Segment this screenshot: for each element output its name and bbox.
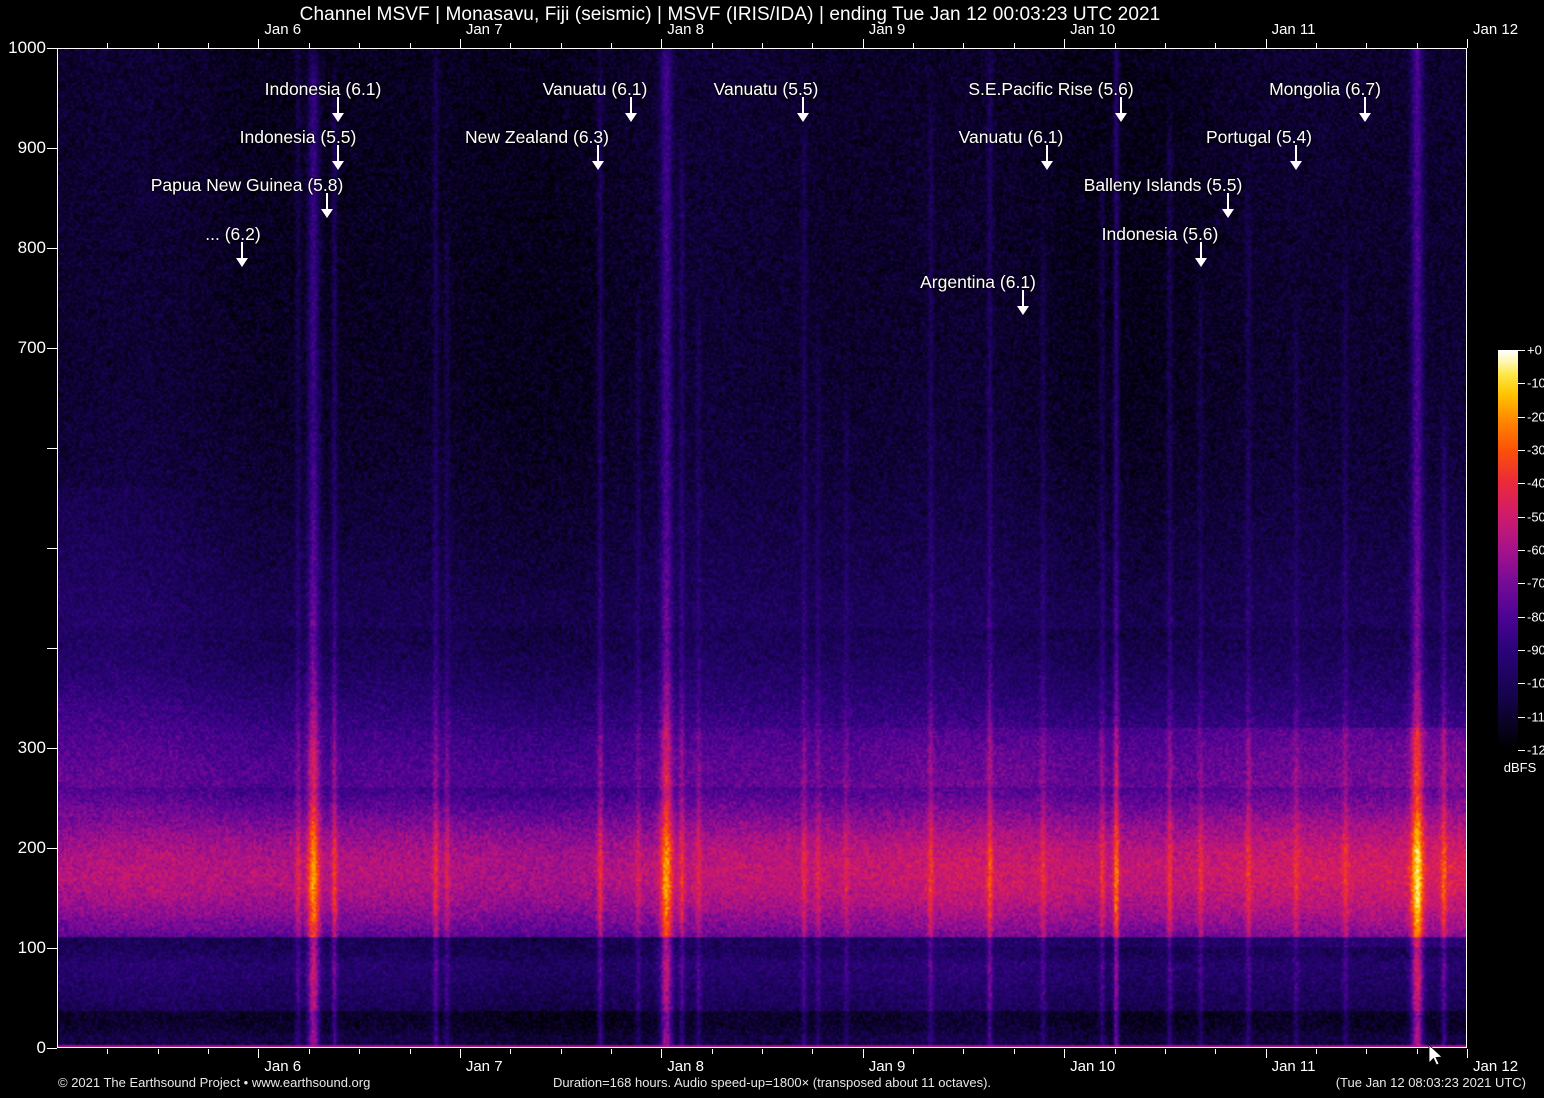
event-annotation-arrow [337,145,339,162]
y-tick-label: 300 [0,738,46,758]
colorbar-tick-label: -80 [1527,609,1544,624]
x-tick-mark [1064,39,1065,48]
colorbar-tick-mark [1518,517,1525,518]
event-annotation-arrow [630,97,632,114]
y-tick-label: 200 [0,838,46,858]
x-tick-mark [1266,39,1267,48]
colorbar-tick-label: -100 [1527,676,1544,691]
colorbar-tick-mark [1518,350,1525,351]
event-annotation-arrow [241,242,243,259]
event-annotation-label: Balleny Islands (5.5) [1084,175,1243,196]
x-tick-minor [913,1049,914,1054]
y-tick-mark [47,948,57,949]
x-tick-minor [309,1049,310,1054]
x-tick-label: Jan 9 [869,21,906,38]
x-tick-mark [863,39,864,48]
footer-duration: Duration=168 hours. Audio speed-up=1800×… [0,1075,1544,1090]
event-annotation-arrow [802,97,804,114]
x-tick-mark [1467,1049,1468,1058]
event-annotation-arrow [337,97,339,114]
y-tick-mark [47,448,57,449]
event-annotation-arrow [1227,193,1229,210]
colorbar-tick-mark [1518,383,1525,384]
colorbar-tick-label: -50 [1527,509,1544,524]
x-tick-minor [812,1049,813,1054]
x-tick-minor [611,1049,612,1054]
x-tick-mark [1064,1049,1065,1058]
y-tick-label: 800 [0,238,46,258]
x-tick-label: Jan 8 [667,1058,704,1075]
colorbar-tick-label: -20 [1527,409,1544,424]
colorbar: +0-10-20-30-40-50-60-70-80-90-100-110-12… [1498,350,1518,750]
colorbar-tick-label: -110 [1527,709,1544,724]
x-tick-label: Jan 10 [1070,1058,1115,1075]
colorbar-unit-label: dBFS [1496,760,1544,775]
y-tick-mark [47,548,57,549]
colorbar-tick-mark [1518,750,1525,751]
spectrogram-plot[interactable]: Indonesia (6.1)Indonesia (5.5)Papua New … [57,48,1467,1048]
x-tick-label: Jan 6 [264,1058,301,1075]
colorbar-gradient [1498,350,1518,750]
event-annotation-label: ... (6.2) [205,224,260,245]
x-tick-label: Jan 10 [1070,21,1115,38]
x-tick-minor [1417,1049,1418,1054]
y-tick-mark [47,348,57,349]
colorbar-tick-label: -70 [1527,576,1544,591]
spectrogram-page: Channel MSVF | Monasavu, Fiji (seismic) … [0,0,1544,1098]
x-tick-mark [460,39,461,48]
x-tick-minor [1115,1049,1116,1054]
colorbar-tick-label: -60 [1527,543,1544,558]
event-annotation-arrow [1295,145,1297,162]
y-tick-label: 100 [0,938,46,958]
colorbar-tick-mark [1518,550,1525,551]
event-annotation-label: Argentina (6.1) [920,272,1036,293]
event-annotation-label: S.E.Pacific Rise (5.6) [968,79,1133,100]
footer-timestamp: (Tue Jan 12 08:03:23 2021 UTC) [1336,1075,1526,1090]
event-annotation-arrow [1364,97,1366,114]
x-tick-minor [561,1049,562,1054]
y-tick-mark [47,848,57,849]
colorbar-tick-mark [1518,683,1525,684]
colorbar-tick-mark [1518,717,1525,718]
x-tick-minor [208,1049,209,1054]
event-annotation-arrow [326,193,328,210]
x-tick-minor [963,1049,964,1054]
colorbar-tick-label: +0 [1527,343,1542,358]
event-annotation-arrow [1022,290,1024,307]
page-title: Channel MSVF | Monasavu, Fiji (seismic) … [0,4,1460,26]
x-tick-minor [510,1049,511,1054]
x-tick-minor [1014,1049,1015,1054]
x-tick-mark [661,1049,662,1058]
x-tick-label: Jan 12 [1473,21,1518,38]
y-tick-mark [47,748,57,749]
x-tick-label: Jan 11 [1272,21,1316,38]
x-tick-label: Jan 8 [667,21,704,38]
x-tick-minor [1316,1049,1317,1054]
x-tick-mark [460,1049,461,1058]
event-annotation-arrow [1200,242,1202,259]
x-tick-minor [1165,1049,1166,1054]
y-tick-label: 900 [0,138,46,158]
event-annotation-label: Indonesia (6.1) [265,79,382,100]
x-tick-label: Jan 6 [264,21,301,38]
x-tick-mark [661,39,662,48]
colorbar-tick-mark [1518,650,1525,651]
x-tick-minor [1215,1049,1216,1054]
x-tick-mark [863,1049,864,1058]
colorbar-tick-label: -90 [1527,643,1544,658]
colorbar-tick-mark [1518,583,1525,584]
colorbar-tick-mark [1518,417,1525,418]
x-tick-mark [1266,1049,1267,1058]
colorbar-tick-label: -120 [1527,743,1544,758]
x-tick-minor [762,1049,763,1054]
x-tick-minor [107,1049,108,1054]
event-annotation-arrow [1120,97,1122,114]
x-tick-minor [712,1049,713,1054]
event-annotation-label: New Zealand (6.3) [465,127,609,148]
colorbar-tick-mark [1518,483,1525,484]
x-tick-minor [158,1049,159,1054]
colorbar-tick-label: -30 [1527,443,1544,458]
y-tick-mark [47,148,57,149]
colorbar-tick-mark [1518,450,1525,451]
x-tick-minor [1366,1049,1367,1054]
x-tick-label: Jan 7 [466,1058,503,1075]
colorbar-tick-label: -40 [1527,476,1544,491]
colorbar-tick-label: -10 [1527,376,1544,391]
y-tick-mark [47,648,57,649]
x-tick-label: Jan 9 [869,1058,906,1075]
x-tick-mark [258,1049,259,1058]
event-annotation-label: Papua New Guinea (5.8) [151,175,344,196]
x-tick-label: Jan 12 [1473,1058,1518,1075]
y-tick-mark [47,248,57,249]
y-tick-label: 1000 [0,38,46,58]
x-tick-label: Jan 7 [466,21,503,38]
x-tick-mark [1467,39,1468,48]
event-annotation-arrow [1046,145,1048,162]
y-tick-label: 700 [0,338,46,358]
x-tick-label: Jan 11 [1272,1058,1316,1075]
x-tick-mark [258,39,259,48]
spectrogram-image[interactable] [58,49,1466,1047]
y-tick-label: 0 [0,1038,46,1058]
y-tick-mark [47,48,57,49]
event-annotation-arrow [597,145,599,162]
y-tick-mark [47,1048,57,1049]
colorbar-tick-mark [1518,617,1525,618]
x-tick-minor [359,1049,360,1054]
x-tick-minor [410,1049,411,1054]
